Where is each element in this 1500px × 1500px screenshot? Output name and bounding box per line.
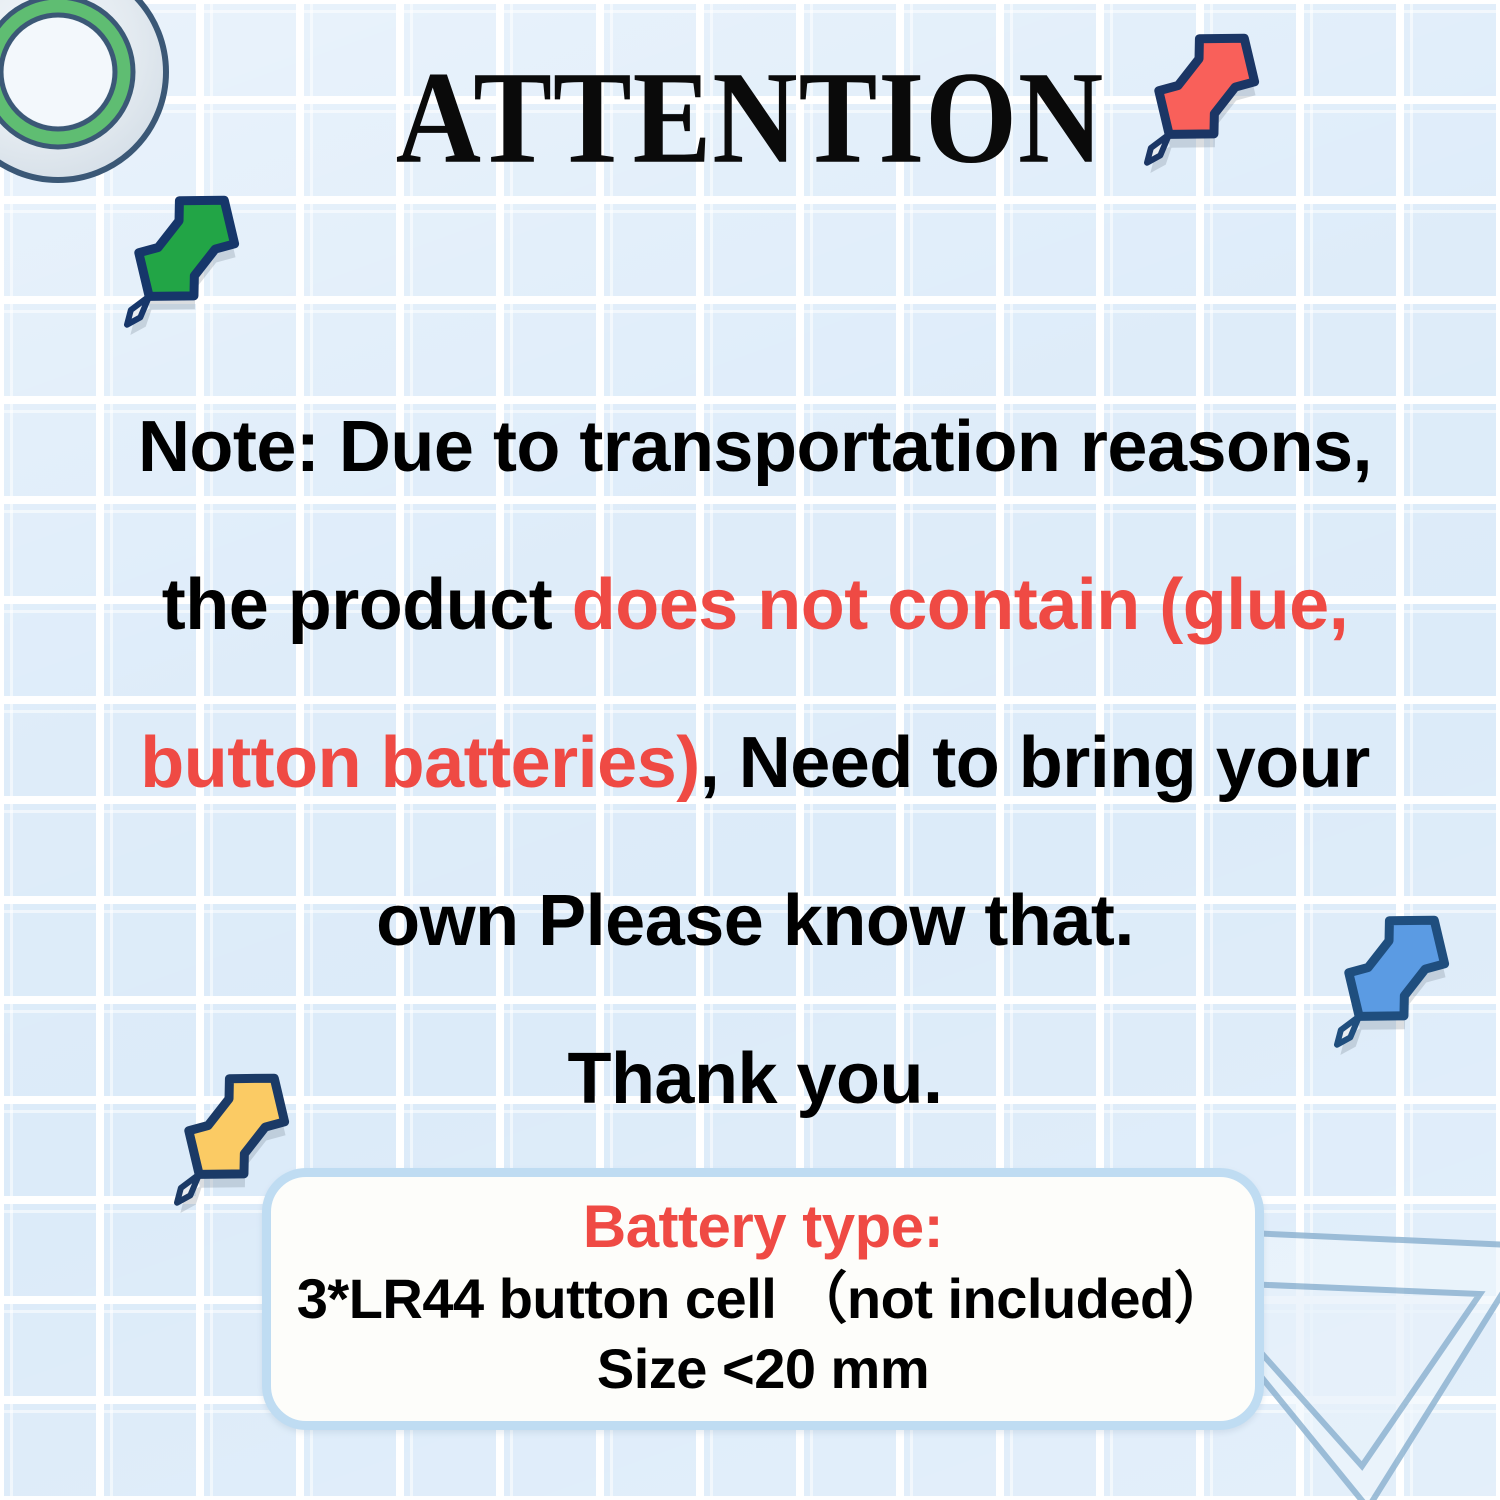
battery-type-box: Battery type: 3*LR44 button cell （not in… xyxy=(262,1168,1264,1430)
notice-line-5: Thank you. xyxy=(70,1000,1440,1158)
battery-type-title: Battery type: xyxy=(583,1190,943,1264)
notice-line-3: button batteries), Need to bring your xyxy=(70,684,1440,842)
notice-body: Note: Due to transportation reasons, the… xyxy=(70,368,1440,1158)
notice-line-2: the product does not contain (glue, xyxy=(70,526,1440,684)
notice-line-3-red: button batteries) xyxy=(140,723,699,803)
notice-line-2-black: the product xyxy=(162,565,572,645)
battery-type-model: 3*LR44 button cell （not included） xyxy=(297,1264,1229,1334)
notice-line-4: own Please know that. xyxy=(70,842,1440,1000)
notice-line-1: Note: Due to transportation reasons, xyxy=(70,368,1440,526)
notice-line-3-black: , Need to bring your xyxy=(700,723,1370,803)
notice-line-2-red: does not contain (glue, xyxy=(572,565,1349,645)
battery-type-size: Size <20 mm xyxy=(597,1334,929,1404)
attention-notice-poster: ATTENTION Note: Due to transportation re… xyxy=(0,0,1500,1500)
page-title: ATTENTION xyxy=(0,52,1500,184)
